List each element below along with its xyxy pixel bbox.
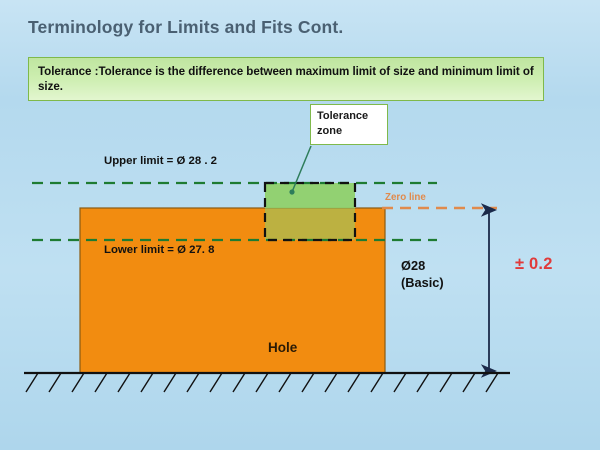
callout-leader-dot bbox=[289, 189, 294, 194]
tolerance-value-label: ± 0.2 bbox=[515, 255, 553, 274]
basic-size-line-2: (Basic) bbox=[401, 274, 444, 291]
ground-hatching bbox=[26, 373, 498, 392]
lower-limit-label: Lower limit = Ø 27. 8 bbox=[104, 244, 214, 256]
tolerance-zone-lower-fill bbox=[265, 208, 355, 240]
slide-canvas: Terminology for Limits and Fits Cont. To… bbox=[0, 0, 600, 450]
tolerance-zone-callout: Tolerance zone bbox=[310, 104, 388, 145]
callout-line-2: zone bbox=[317, 124, 387, 139]
callout-line-1: Tolerance bbox=[317, 109, 387, 124]
basic-size-label: Ø28 (Basic) bbox=[401, 257, 444, 291]
tolerance-zone-upper-fill bbox=[265, 183, 355, 208]
basic-size-line-1: Ø28 bbox=[401, 257, 444, 274]
hole-label: Hole bbox=[268, 340, 297, 355]
zero-line-label: Zero line bbox=[385, 192, 426, 203]
limits-and-fits-diagram bbox=[0, 0, 600, 450]
upper-limit-label: Upper limit = Ø 28 . 2 bbox=[104, 155, 217, 167]
